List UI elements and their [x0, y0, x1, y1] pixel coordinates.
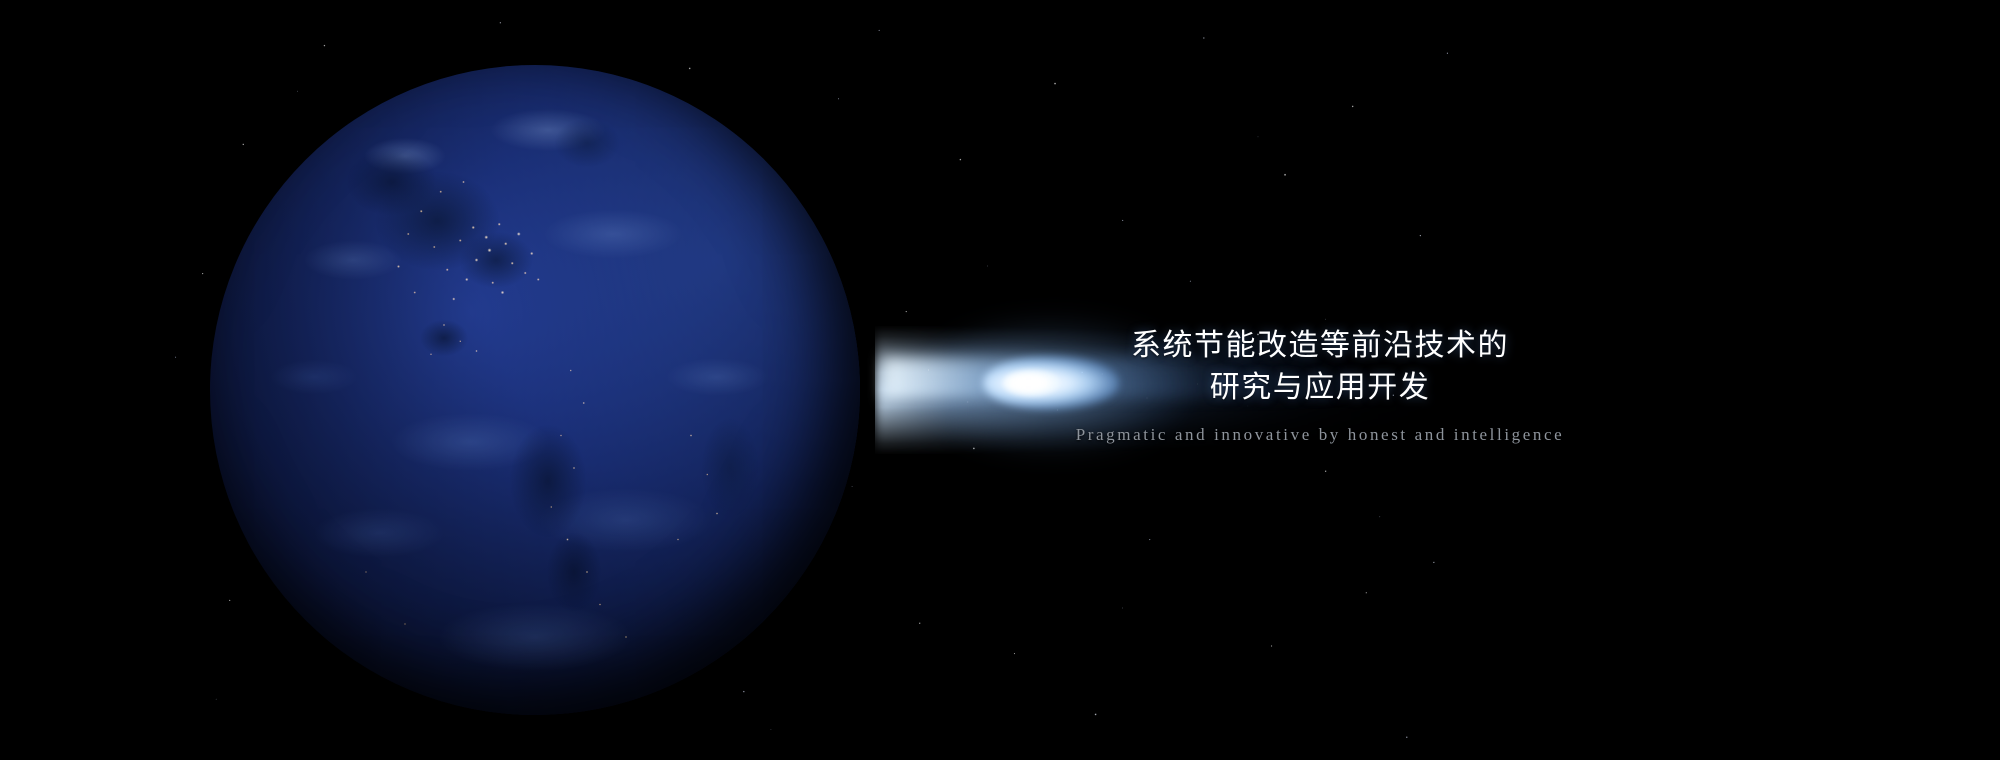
banner-copy: 系统节能改造等前沿技术的 研究与应用开发 Pragmatic and innov…	[1000, 325, 1640, 445]
headline-line-2: 研究与应用开发	[1000, 367, 1640, 409]
earth-globe	[210, 65, 860, 715]
banner-subhead: Pragmatic and innovative by honest and i…	[1000, 425, 1640, 445]
earth-atmospheric-limb	[207, 62, 863, 718]
hero-banner: 系统节能改造等前沿技术的 研究与应用开发 Pragmatic and innov…	[0, 0, 2000, 760]
headline-line-1: 系统节能改造等前沿技术的	[1000, 325, 1640, 367]
